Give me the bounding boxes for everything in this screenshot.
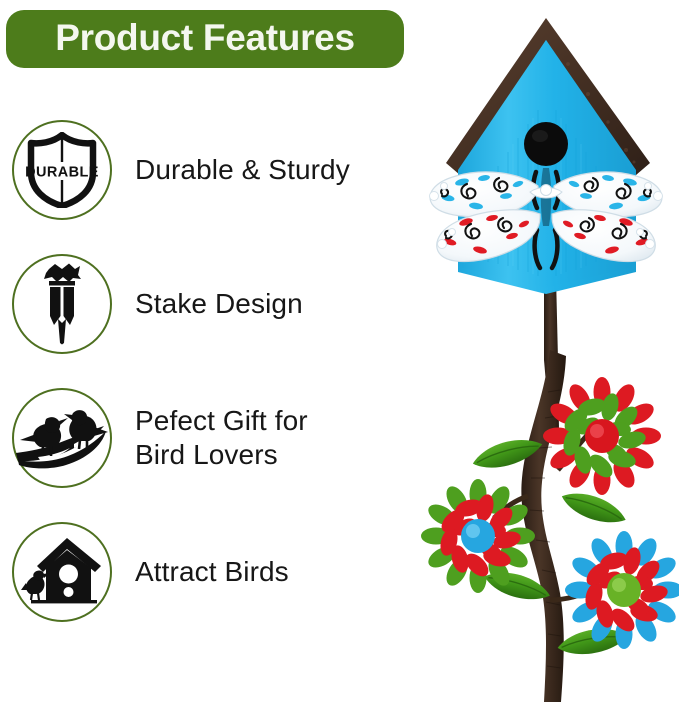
shield-icon: DURABLE	[12, 120, 112, 220]
feature-label-durable: Durable & Sturdy	[135, 153, 350, 187]
birds-on-branch-icon	[12, 388, 112, 488]
feature-row-gift: Pefect Gift for Bird Lovers	[12, 386, 412, 490]
feature-label-line: Stake Design	[135, 287, 303, 321]
feature-label-attract: Attract Birds	[135, 555, 289, 589]
feature-label-line-2: Bird Lovers	[135, 438, 308, 472]
flower-bottom-right	[565, 531, 679, 649]
feature-label-gift: Pefect Gift for Bird Lovers	[135, 404, 308, 472]
feature-label-line: Pefect Gift for	[135, 404, 308, 438]
header-banner: Product Features	[6, 10, 404, 68]
product-features-infographic: Product Features DURABLE Durable & Sturd…	[0, 0, 679, 702]
shield-icon-text: DURABLE	[25, 165, 99, 181]
birdhouse-with-bird-icon	[12, 522, 112, 622]
feature-row-attract: Attract Birds	[12, 520, 412, 624]
entrance-hole	[524, 122, 568, 166]
feature-row-stake: Stake Design	[12, 252, 412, 356]
leaf	[558, 485, 630, 531]
bird-house	[430, 18, 663, 294]
feature-row-durable: DURABLE Durable & Sturdy	[12, 118, 412, 222]
feature-label-stake: Stake Design	[135, 287, 303, 321]
stake-icon	[12, 254, 112, 354]
feature-label-line: Attract Birds	[135, 555, 289, 589]
product-photo	[418, 0, 679, 702]
feature-label-line: Durable & Sturdy	[135, 153, 350, 187]
page-title: Product Features	[55, 19, 355, 59]
